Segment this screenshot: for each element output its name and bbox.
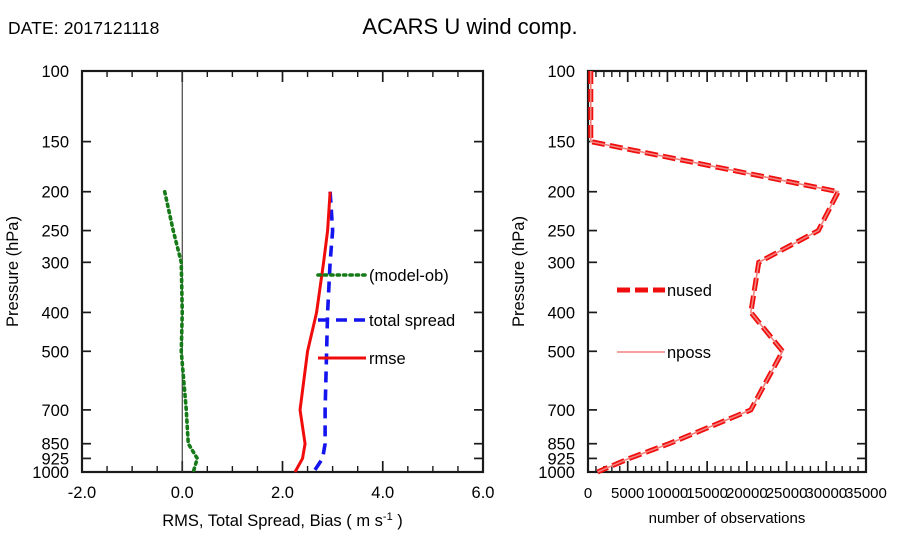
y-tick-label: 500 bbox=[547, 343, 575, 361]
legend-right-panel: nusednposs bbox=[617, 282, 712, 362]
legend-label: total spread bbox=[369, 312, 455, 330]
x-tick-label: 0.0 bbox=[171, 484, 194, 502]
x-tick-label: 4.0 bbox=[371, 484, 394, 502]
y-tick-label: 150 bbox=[547, 134, 575, 152]
x-axis-label: RMS, Total Spread, Bias ( m s-1 ) bbox=[162, 511, 403, 530]
figure-canvas: DATE: 2017121118 ACARS U wind comp. 1001… bbox=[0, 0, 900, 560]
series-model-ob bbox=[165, 192, 198, 472]
legend-item-model-ob: (model-ob) bbox=[318, 267, 449, 285]
x-tick-label: 25000 bbox=[766, 485, 808, 502]
x-tick-label: 15000 bbox=[686, 485, 728, 502]
y-tick-label: 200 bbox=[41, 184, 69, 202]
x-tick-label: 0 bbox=[584, 485, 592, 502]
series-nused bbox=[591, 71, 838, 472]
y-tick-label: 250 bbox=[41, 223, 69, 241]
x-tick-label: 35000 bbox=[845, 485, 887, 502]
x-tick-label: 6.0 bbox=[472, 484, 495, 502]
y-tick-label: 1000 bbox=[32, 464, 69, 482]
panel-left: 1001502002503004005007008509251000-2.00.… bbox=[4, 63, 494, 530]
y-tick-label: 700 bbox=[547, 402, 575, 420]
x-tick-label: 10000 bbox=[647, 485, 689, 502]
x-axis-label: number of observations bbox=[649, 510, 806, 527]
y-tick-label: 700 bbox=[41, 402, 69, 420]
legend-label: nposs bbox=[667, 344, 711, 362]
y-tick-label: 400 bbox=[547, 304, 575, 322]
y-tick-label: 150 bbox=[41, 134, 69, 152]
x-tick-label: 5000 bbox=[611, 485, 644, 502]
y-tick-label: 200 bbox=[547, 184, 575, 202]
plots-svg: 1001502002503004005007008509251000-2.00.… bbox=[0, 0, 900, 560]
y-tick-label: 300 bbox=[547, 254, 575, 272]
legend-left-panel: (model-ob)total spreadrmse bbox=[318, 267, 455, 368]
series-nposs bbox=[591, 71, 838, 472]
y-tick-label: 250 bbox=[547, 223, 575, 241]
y-tick-label: 300 bbox=[41, 254, 69, 272]
legend-item-nused: nused bbox=[617, 282, 712, 300]
legend-label: nused bbox=[667, 282, 712, 300]
x-tick-label: 20000 bbox=[726, 485, 768, 502]
x-tick-label: -2.0 bbox=[68, 484, 96, 502]
legend-item-nposs: nposs bbox=[617, 344, 711, 362]
y-tick-label: 100 bbox=[41, 63, 69, 81]
x-tick-label: 2.0 bbox=[271, 484, 294, 502]
y-tick-label: 1000 bbox=[538, 464, 575, 482]
y-tick-label: 100 bbox=[547, 63, 575, 81]
plot-frame bbox=[588, 71, 866, 472]
legend-item-rmse: rmse bbox=[318, 350, 406, 368]
y-tick-label: 500 bbox=[41, 343, 69, 361]
y-tick-label: 400 bbox=[41, 304, 69, 322]
y-axis-label: Pressure (hPa) bbox=[510, 216, 528, 327]
x-tick-label: 30000 bbox=[805, 485, 847, 502]
y-axis-label: Pressure (hPa) bbox=[4, 216, 22, 327]
legend-item-total-spread: total spread bbox=[318, 312, 455, 330]
legend-label: (model-ob) bbox=[369, 267, 449, 285]
series-total-spread bbox=[314, 192, 333, 472]
legend-label: rmse bbox=[369, 350, 406, 368]
